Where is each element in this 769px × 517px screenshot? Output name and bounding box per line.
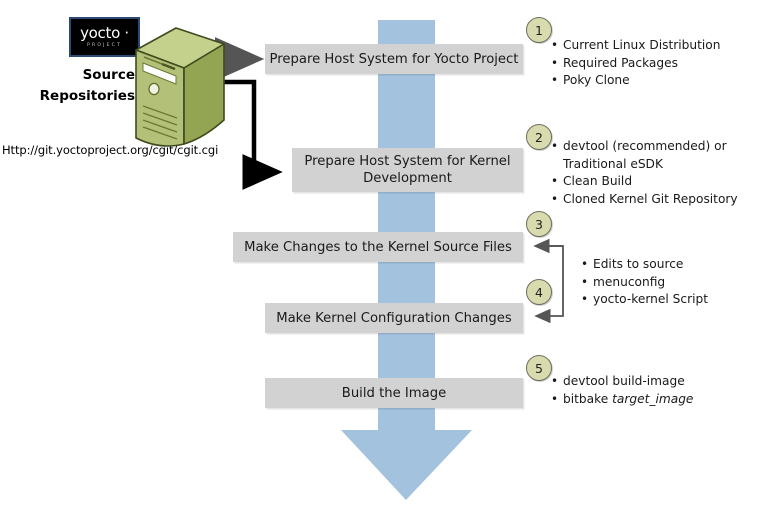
diagram-canvas: yocto · PROJECT Source Repositories Http… bbox=[0, 0, 769, 517]
bullet-text: Clean Build bbox=[563, 174, 632, 188]
source-label-line-2: Repositories bbox=[10, 86, 135, 107]
process-box-prepare-host-kernel[interactable]: Prepare Host System for Kernel Developme… bbox=[292, 148, 523, 192]
list-item: devtool build-image bbox=[551, 373, 693, 391]
bullet-text: devtool (recommended) or bbox=[563, 139, 727, 153]
list-item: Edits to source bbox=[581, 256, 708, 274]
step-number-5: 5 bbox=[526, 355, 552, 381]
process-box-label: Build the Image bbox=[342, 385, 446, 402]
process-box-label: Make Kernel Configuration Changes bbox=[276, 310, 512, 327]
process-box-label: Prepare Host System for Kernel Developme… bbox=[292, 153, 523, 187]
process-box-label: Prepare Host System for Yocto Project bbox=[270, 51, 519, 68]
process-box-build-image[interactable]: Build the Image bbox=[265, 378, 523, 408]
process-box-prepare-host-yocto[interactable]: Prepare Host System for Yocto Project bbox=[265, 44, 523, 74]
server-tower-icon bbox=[132, 26, 228, 148]
bullet-text: Edits to source bbox=[593, 257, 683, 271]
step-number-2: 2 bbox=[526, 124, 552, 150]
logo-wordmark: yocto · bbox=[80, 26, 129, 41]
bullet-text: Cloned Kernel Git Repository bbox=[563, 192, 738, 206]
step-number-4: 4 bbox=[526, 279, 552, 305]
bullet-text-italic: target_image bbox=[612, 392, 693, 406]
process-box-make-kernel-config-changes[interactable]: Make Kernel Configuration Changes bbox=[265, 303, 523, 333]
bullet-text: bitbake bbox=[563, 392, 612, 406]
list-item: menuconfig bbox=[581, 274, 708, 292]
logo-subtitle: PROJECT bbox=[87, 42, 122, 49]
bullet-text: devtool build-image bbox=[563, 374, 685, 388]
process-box-make-kernel-source-changes[interactable]: Make Changes to the Kernel Source Files bbox=[233, 232, 523, 262]
bullet-text: Current Linux Distribution bbox=[563, 38, 720, 52]
yocto-project-logo: yocto · PROJECT bbox=[69, 17, 140, 57]
step-number-3: 3 bbox=[526, 211, 552, 237]
list-item: Required Packages bbox=[551, 55, 720, 73]
process-box-label: Make Changes to the Kernel Source Files bbox=[244, 239, 512, 256]
step-2-bullet-list: devtool (recommended) or Traditional eSD… bbox=[551, 138, 738, 208]
shared-steps-3-4-bullet-list: Edits to source menuconfig yocto-kernel … bbox=[581, 256, 708, 309]
step-5-bullet-list: devtool build-image bitbake target_image bbox=[551, 373, 693, 408]
list-item: Clean Build bbox=[551, 173, 738, 191]
bullet-text: menuconfig bbox=[593, 275, 665, 289]
list-item: yocto-kernel Script bbox=[581, 291, 708, 309]
bullet-text: Required Packages bbox=[563, 56, 678, 70]
bullet-text: Traditional eSDK bbox=[563, 157, 663, 171]
source-repositories-label: Source Repositories bbox=[10, 65, 135, 107]
connector-server-to-step2 bbox=[222, 82, 276, 172]
list-item: devtool (recommended) or bbox=[551, 138, 738, 156]
list-item: Poky Clone bbox=[551, 72, 720, 90]
bullet-text: Poky Clone bbox=[563, 73, 630, 87]
source-label-line-1: Source bbox=[10, 65, 135, 86]
bullet-text: yocto-kernel Script bbox=[593, 292, 708, 306]
list-item-continuation: Traditional eSDK bbox=[551, 156, 738, 174]
step-1-bullet-list: Current Linux Distribution Required Pack… bbox=[551, 37, 720, 90]
list-item: bitbake target_image bbox=[551, 391, 693, 409]
step-number-1: 1 bbox=[526, 17, 552, 43]
list-item: Current Linux Distribution bbox=[551, 37, 720, 55]
list-item: Cloned Kernel Git Repository bbox=[551, 191, 738, 209]
